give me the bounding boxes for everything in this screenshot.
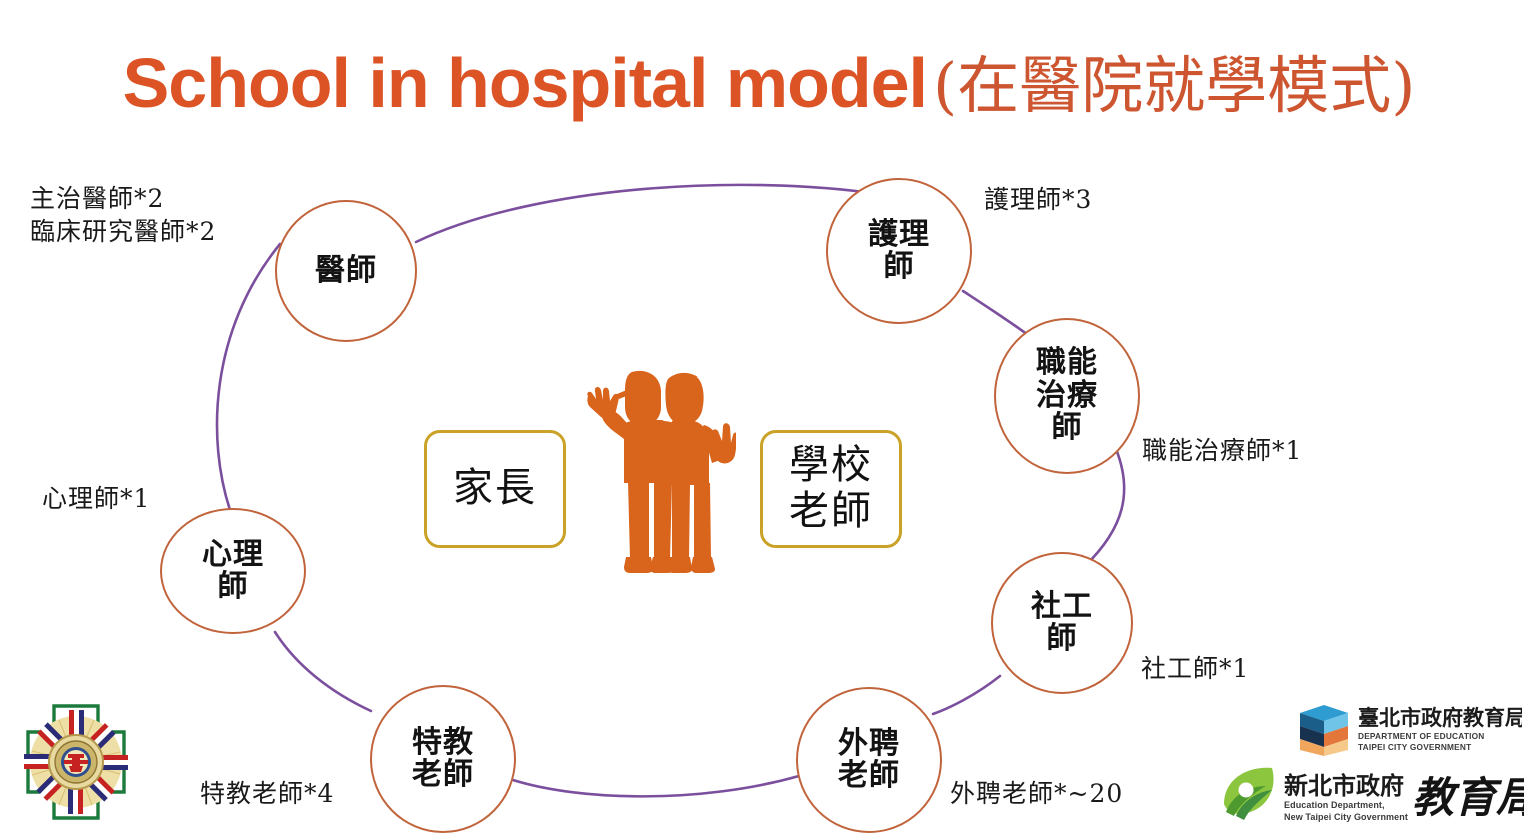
center-box-school-teacher[interactable]: 學校 老師 bbox=[760, 430, 902, 548]
role-label-social-worker: 社工 師 bbox=[1031, 591, 1093, 656]
arc-outsourced-specialed bbox=[513, 776, 799, 796]
slide-canvas: School in hospital model(在醫院就學模式) bbox=[0, 0, 1538, 836]
note-occupational-therapist: 職能治療師*1 bbox=[1142, 434, 1302, 467]
role-label-nurse: 護理 師 bbox=[868, 219, 930, 284]
role-circle-occupational-therapist[interactable]: 職能 治療 師 bbox=[994, 318, 1140, 474]
role-label-outsourced-teacher: 外聘 老師 bbox=[838, 728, 900, 793]
note-outsourced-teacher: 外聘老師*~20 bbox=[950, 777, 1123, 810]
role-circle-psychologist[interactable]: 心理 師 bbox=[160, 508, 306, 634]
note-psychologist: 心理師*1 bbox=[42, 482, 150, 515]
center-box-parents[interactable]: 家長 bbox=[424, 430, 566, 548]
role-label-special-ed-teacher: 特教 老師 bbox=[412, 727, 474, 792]
two-children-silhouette-icon bbox=[576, 363, 736, 585]
logo-taipei-zh: 臺北市政府教育局 bbox=[1358, 706, 1522, 730]
role-circle-special-ed-teacher[interactable]: 特教 老師 bbox=[370, 685, 516, 833]
logo-taipei-en-line1: DEPARTMENT OF EDUCATION bbox=[1358, 731, 1484, 741]
arc-specialed-psychologist bbox=[275, 632, 371, 711]
note-doctor: 主治醫師*2 臨床研究醫師*2 bbox=[30, 182, 216, 248]
award-medal-emblem-icon bbox=[2, 692, 150, 834]
logo-taipei-en-line2: TAIPEI CITY GOVERNMENT bbox=[1358, 742, 1471, 752]
note-social-worker: 社工師*1 bbox=[1141, 652, 1249, 685]
center-box-label-parents: 家長 bbox=[453, 466, 537, 512]
logo-new-taipei-city-education: 新北市政府 Education Department, New Taipei C… bbox=[1216, 762, 1524, 830]
note-nurse: 護理師*3 bbox=[984, 183, 1092, 216]
logo-new-taipei-en-line1: Education Department, bbox=[1284, 800, 1385, 810]
logo-new-taipei-zh: 新北市政府 bbox=[1284, 772, 1404, 800]
arc-socialworker-outsourced bbox=[933, 676, 1000, 714]
arc-doctor-nurse bbox=[416, 185, 897, 242]
role-label-occupational-therapist: 職能 治療 師 bbox=[1036, 347, 1098, 444]
logo-new-taipei-en-line2: New Taipei City Government bbox=[1284, 812, 1408, 822]
role-circle-doctor[interactable]: 醫師 bbox=[275, 200, 417, 342]
role-label-psychologist: 心理 師 bbox=[202, 539, 264, 604]
note-special-ed-teacher: 特教老師*4 bbox=[200, 777, 334, 810]
logo-taipei-city-education: 臺北市政府教育局 DEPARTMENT OF EDUCATION TAIPEI … bbox=[1294, 700, 1522, 760]
logo-new-taipei-calligraphy: 教育局 bbox=[1412, 773, 1524, 822]
center-box-label-school-teacher: 學校 老師 bbox=[789, 443, 873, 534]
role-circle-social-worker[interactable]: 社工 師 bbox=[991, 552, 1133, 694]
role-circle-outsourced-teacher[interactable]: 外聘 老師 bbox=[796, 687, 942, 833]
role-label-doctor: 醫師 bbox=[315, 255, 377, 287]
arc-psychologist-doctor bbox=[217, 244, 280, 513]
role-circle-nurse[interactable]: 護理 師 bbox=[826, 178, 972, 324]
